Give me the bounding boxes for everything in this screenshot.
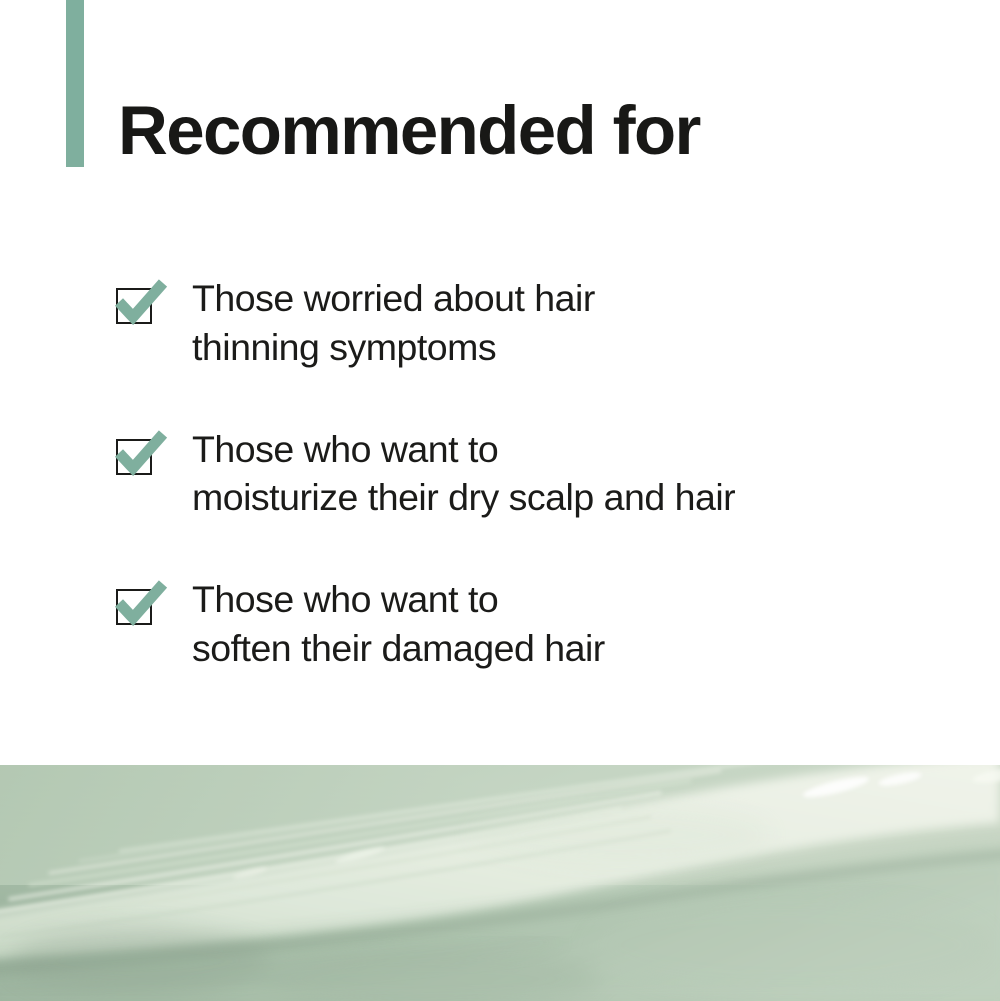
list-item-text: Those who want to moisturize their dry s…: [192, 423, 735, 523]
list-item-text: Those who want to soften their damaged h…: [192, 573, 605, 673]
list-item: Those who want to moisturize their dry s…: [113, 423, 913, 523]
checkmark-icon: [113, 580, 169, 636]
list-item-line-2: soften their damaged hair: [192, 624, 605, 673]
heading-accent-bar: [66, 0, 84, 167]
checkmark-icon: [113, 279, 169, 335]
checked-checkbox-icon: [113, 279, 157, 327]
checkmark-icon: [113, 430, 169, 486]
list-item-line-2: moisturize their dry scalp and hair: [192, 473, 735, 522]
list-item-line-1: Those who want to: [192, 425, 735, 474]
list-item-line-2: thinning symptoms: [192, 323, 595, 372]
checked-checkbox-icon: [113, 430, 157, 478]
recommended-for-list: Those worried about hair thinning sympto…: [113, 272, 913, 673]
recommended-for-panel: Recommended for Those worried about hair…: [0, 0, 1000, 1001]
list-item-line-1: Those worried about hair: [192, 274, 595, 323]
list-item-line-1: Those who want to: [192, 575, 605, 624]
list-item: Those worried about hair thinning sympto…: [113, 272, 913, 372]
page-title: Recommended for: [118, 96, 700, 165]
cream-texture-macro-photo: [0, 765, 1000, 1001]
cream-texture-graphic: [0, 765, 1000, 1001]
checked-checkbox-icon: [113, 580, 157, 628]
list-item-text: Those worried about hair thinning sympto…: [192, 272, 595, 372]
list-item: Those who want to soften their damaged h…: [113, 573, 913, 673]
